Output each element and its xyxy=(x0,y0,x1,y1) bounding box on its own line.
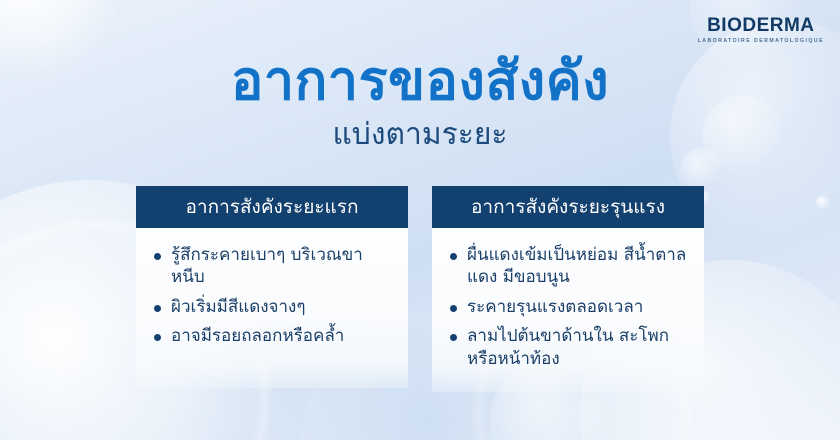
card-body-early-stage: รู้สึกระคายเบาๆ บริเวณขาหนีบ ผิวเริ่มมีส… xyxy=(136,228,408,365)
list-item: อาจมีรอยถลอกหรือคล้ำ xyxy=(152,325,394,347)
logo-tagline: LABORATOIRE DERMATOLOGIQUE xyxy=(698,39,824,44)
card-header-label: อาการสังคังระยะรุนแรง xyxy=(471,198,665,217)
background-bubble xyxy=(10,0,36,10)
page-title: อาการของสังคัง xyxy=(0,52,840,109)
background-bubble xyxy=(680,148,722,190)
card-body-severe-stage: ผื่นแดงเข้มเป็นหย่อม สีน้ำตาลแดง มีขอบนู… xyxy=(432,228,704,387)
list-item: ลามไปต้นขาด้านใน สะโพก หรือหน้าท้อง xyxy=(448,325,690,370)
list-item: ผิวเริ่มมีสีแดงจางๆ xyxy=(152,296,394,318)
logo-wordmark: BIODERMA xyxy=(698,16,824,35)
list-item: ระคายรุนแรงตลอดเวลา xyxy=(448,296,690,318)
card-header-label: อาการสังคังระยะแรก xyxy=(185,198,358,217)
list-item: รู้สึกระคายเบาๆ บริเวณขาหนีบ xyxy=(152,244,394,289)
background-bubble xyxy=(816,196,830,210)
card-early-stage: อาการสังคังระยะแรก รู้สึกระคายเบาๆ บริเว… xyxy=(136,186,408,388)
list-item: ผื่นแดงเข้มเป็นหย่อม สีน้ำตาลแดง มีขอบนู… xyxy=(448,244,690,289)
card-header-early-stage: อาการสังคังระยะแรก xyxy=(136,186,408,228)
infographic-poster: BIODERMA LABORATOIRE DERMATOLOGIQUE อากา… xyxy=(0,0,840,440)
symptom-list-early-stage: รู้สึกระคายเบาๆ บริเวณขาหนีบ ผิวเริ่มมีส… xyxy=(152,244,394,348)
card-severe-stage: อาการสังคังระยะรุนแรง ผื่นแดงเข้มเป็นหย่… xyxy=(432,186,704,392)
card-header-severe-stage: อาการสังคังระยะรุนแรง xyxy=(432,186,704,228)
bioderma-logo: BIODERMA LABORATOIRE DERMATOLOGIQUE xyxy=(698,16,824,44)
page-subtitle: แบ่งตามระยะ xyxy=(0,117,840,153)
symptom-list-severe-stage: ผื่นแดงเข้มเป็นหย่อม สีน้ำตาลแดง มีขอบนู… xyxy=(448,244,690,370)
